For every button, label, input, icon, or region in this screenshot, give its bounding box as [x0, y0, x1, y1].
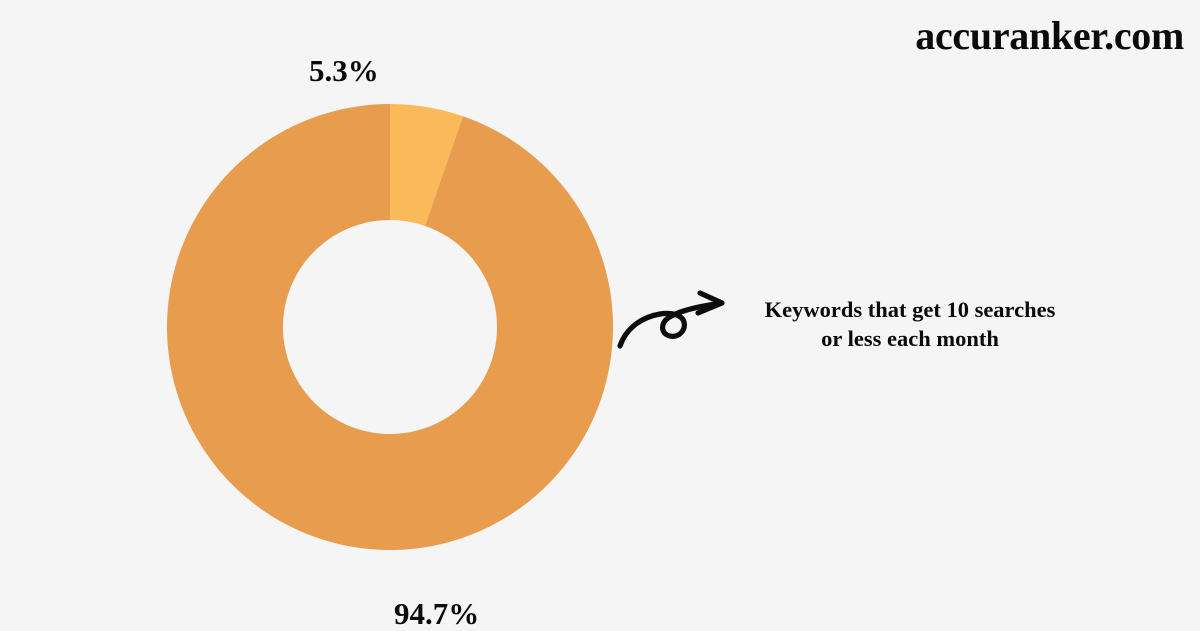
infographic-canvas: accuranker.com 5.3% 94.7% Keywords that …	[0, 0, 1200, 630]
callout-text: Keywords that get 10 searches or less ea…	[730, 296, 1090, 354]
slice-label-minor: 5.3%	[309, 55, 379, 86]
slice-label-major: 94.7%	[394, 598, 479, 629]
donut-chart	[167, 104, 613, 550]
brand-logo: accuranker.com	[915, 16, 1184, 56]
callout-line-1: Keywords that get 10 searches	[730, 296, 1090, 325]
donut-chart-svg	[167, 104, 613, 550]
callout-line-2: or less each month	[730, 325, 1090, 354]
curly-arrow-icon	[612, 286, 736, 356]
donut-slices	[167, 104, 613, 550]
curly-arrow-svg	[612, 286, 736, 356]
